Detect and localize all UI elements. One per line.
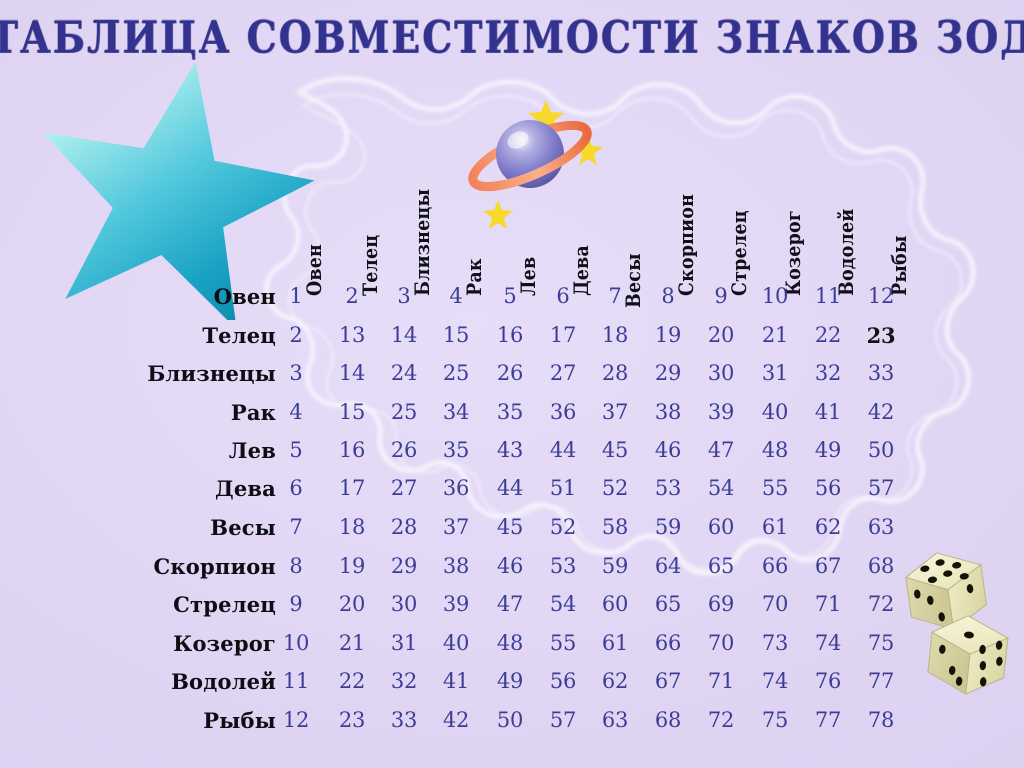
table-cell: 15: [330, 400, 374, 424]
table-cell: 9: [699, 284, 743, 308]
row-header-8: Скорпион: [120, 554, 276, 584]
table-cell: 60: [593, 592, 637, 616]
column-header-label: Скорпион: [676, 194, 698, 296]
table-cell: 32: [806, 361, 850, 385]
table-cell: 72: [699, 708, 743, 732]
table-cell: 11: [274, 669, 318, 693]
row-header-label: Телец: [202, 323, 276, 348]
table-cell: 38: [434, 554, 478, 578]
table-cell: 19: [330, 554, 374, 578]
table-cell: 7: [593, 284, 637, 308]
table-cell: 74: [806, 631, 850, 655]
table-cell: 44: [541, 438, 585, 462]
table-cell: 12: [274, 708, 318, 732]
row-header-1: Овен: [120, 284, 276, 314]
table-cell: 51: [541, 476, 585, 500]
table-cell: 23: [859, 323, 903, 348]
table-cell: 35: [488, 400, 532, 424]
table-cell: 28: [382, 515, 426, 539]
table-cell: 3: [382, 284, 426, 308]
table-cell: 65: [699, 554, 743, 578]
row-header-label: Близнецы: [147, 361, 276, 386]
table-cell: 6: [541, 284, 585, 308]
table-cell: 36: [434, 476, 478, 500]
table-cell: 2: [330, 284, 374, 308]
table-cell: 27: [382, 476, 426, 500]
table-cell: 15: [434, 323, 478, 347]
table-cell: 47: [699, 438, 743, 462]
table-cell: 42: [859, 400, 903, 424]
table-cell: 78: [859, 708, 903, 732]
table-cell: 48: [488, 631, 532, 655]
table-cell: 56: [541, 669, 585, 693]
row-header-4: Рак: [120, 400, 276, 430]
row-header-label: Овен: [214, 284, 276, 309]
table-cell: 10: [274, 631, 318, 655]
table-cell: 68: [646, 708, 690, 732]
compatibility-table: ОвенТелецБлизнецыРакЛевДеваВесыСкорпионС…: [0, 0, 1024, 768]
table-cell: 19: [646, 323, 690, 347]
table-cell: 58: [593, 515, 637, 539]
table-cell: 39: [434, 592, 478, 616]
column-header-3: Близнецы: [412, 179, 434, 296]
table-cell: 33: [382, 708, 426, 732]
column-header-label: Водолей: [836, 209, 858, 296]
table-cell: 39: [699, 400, 743, 424]
table-cell: 5: [274, 438, 318, 462]
table-cell: 30: [382, 592, 426, 616]
row-header-9: Стрелец: [120, 592, 276, 622]
table-cell: 77: [806, 708, 850, 732]
table-cell: 12: [859, 284, 903, 308]
column-header-10: Козерог: [783, 203, 805, 296]
table-cell: 4: [274, 400, 318, 424]
table-cell: 23: [330, 708, 374, 732]
table-cell: 42: [434, 708, 478, 732]
table-cell: 26: [382, 438, 426, 462]
table-cell: 54: [541, 592, 585, 616]
table-cell: 37: [434, 515, 478, 539]
table-cell: 43: [488, 438, 532, 462]
table-cell: 74: [753, 669, 797, 693]
table-cell: 67: [806, 554, 850, 578]
table-cell: 77: [859, 669, 903, 693]
table-cell: 61: [593, 631, 637, 655]
table-cell: 62: [593, 669, 637, 693]
table-cell: 40: [753, 400, 797, 424]
table-cell: 3: [274, 361, 318, 385]
table-cell: 21: [753, 323, 797, 347]
table-cell: 47: [488, 592, 532, 616]
column-header-8: Скорпион: [676, 185, 698, 296]
table-cell: 41: [434, 669, 478, 693]
table-cell: 14: [382, 323, 426, 347]
table-cell: 29: [382, 554, 426, 578]
table-cell: 75: [859, 631, 903, 655]
table-cell: 70: [753, 592, 797, 616]
table-cell: 17: [330, 476, 374, 500]
table-cell: 28: [593, 361, 637, 385]
table-cell: 20: [699, 323, 743, 347]
table-cell: 50: [859, 438, 903, 462]
row-header-7: Весы: [120, 515, 276, 545]
table-cell: 56: [806, 476, 850, 500]
table-cell: 57: [541, 708, 585, 732]
row-header-5: Лев: [120, 438, 276, 468]
table-cell: 7: [274, 515, 318, 539]
table-cell: 33: [859, 361, 903, 385]
table-cell: 60: [699, 515, 743, 539]
table-cell: 59: [646, 515, 690, 539]
row-header-label: Стрелец: [173, 592, 276, 617]
table-cell: 17: [541, 323, 585, 347]
row-header-label: Рак: [231, 400, 276, 425]
row-header-label: Дева: [215, 476, 276, 501]
table-cell: 76: [806, 669, 850, 693]
table-cell: 40: [434, 631, 478, 655]
row-header-label: Рыбы: [203, 708, 276, 733]
table-cell: 45: [593, 438, 637, 462]
table-cell: 10: [753, 284, 797, 308]
table-cell: 21: [330, 631, 374, 655]
table-cell: 8: [646, 284, 690, 308]
table-cell: 5: [488, 284, 532, 308]
table-cell: 55: [753, 476, 797, 500]
table-cell: 32: [382, 669, 426, 693]
column-header-9: Стрелец: [729, 203, 751, 296]
table-cell: 9: [274, 592, 318, 616]
table-cell: 18: [330, 515, 374, 539]
table-cell: 52: [593, 476, 637, 500]
table-cell: 25: [382, 400, 426, 424]
column-header-label: Близнецы: [412, 189, 434, 296]
table-cell: 66: [646, 631, 690, 655]
row-header-label: Весы: [210, 515, 276, 540]
table-cell: 63: [593, 708, 637, 732]
table-cell: 2: [274, 323, 318, 347]
table-cell: 63: [859, 515, 903, 539]
table-cell: 61: [753, 515, 797, 539]
table-cell: 38: [646, 400, 690, 424]
table-cell: 29: [646, 361, 690, 385]
row-header-10: Козерог: [120, 631, 276, 661]
table-cell: 16: [330, 438, 374, 462]
table-cell: 67: [646, 669, 690, 693]
table-cell: 25: [434, 361, 478, 385]
row-header-label: Водолей: [171, 669, 276, 694]
table-cell: 24: [382, 361, 426, 385]
table-cell: 16: [488, 323, 532, 347]
table-cell: 8: [274, 554, 318, 578]
table-cell: 35: [434, 438, 478, 462]
row-header-11: Водолей: [120, 669, 276, 699]
table-cell: 75: [753, 708, 797, 732]
table-cell: 18: [593, 323, 637, 347]
table-cell: 73: [753, 631, 797, 655]
table-cell: 68: [859, 554, 903, 578]
table-cell: 46: [488, 554, 532, 578]
table-cell: 57: [859, 476, 903, 500]
table-cell: 65: [646, 592, 690, 616]
table-cell: 62: [806, 515, 850, 539]
table-cell: 70: [699, 631, 743, 655]
table-cell: 22: [806, 323, 850, 347]
table-cell: 31: [753, 361, 797, 385]
table-cell: 52: [541, 515, 585, 539]
table-cell: 27: [541, 361, 585, 385]
table-cell: 72: [859, 592, 903, 616]
table-cell: 46: [646, 438, 690, 462]
table-cell: 14: [330, 361, 374, 385]
table-cell: 55: [541, 631, 585, 655]
table-cell: 30: [699, 361, 743, 385]
table-cell: 53: [646, 476, 690, 500]
table-cell: 1: [274, 284, 318, 308]
slide-canvas: ТАБЛИЦА СОВМЕСТИМОСТИ ЗНАКОВ ЗОДИАКА Ове…: [0, 0, 1024, 768]
table-cell: 45: [488, 515, 532, 539]
table-cell: 6: [274, 476, 318, 500]
row-header-6: Дева: [120, 476, 276, 506]
row-header-12: Рыбы: [120, 708, 276, 738]
table-cell: 4: [434, 284, 478, 308]
table-cell: 69: [699, 592, 743, 616]
table-cell: 11: [806, 284, 850, 308]
column-header-11: Водолей: [836, 201, 858, 296]
table-cell: 26: [488, 361, 532, 385]
row-header-2: Телец: [120, 323, 276, 353]
table-cell: 64: [646, 554, 690, 578]
table-cell: 59: [593, 554, 637, 578]
table-cell: 22: [330, 669, 374, 693]
table-cell: 48: [753, 438, 797, 462]
table-cell: 71: [699, 669, 743, 693]
table-cell: 31: [382, 631, 426, 655]
table-cell: 13: [330, 323, 374, 347]
table-cell: 49: [806, 438, 850, 462]
row-header-label: Скорпион: [154, 554, 277, 579]
table-cell: 53: [541, 554, 585, 578]
table-cell: 71: [806, 592, 850, 616]
table-cell: 34: [434, 400, 478, 424]
table-cell: 49: [488, 669, 532, 693]
row-header-3: Близнецы: [120, 361, 276, 391]
table-cell: 50: [488, 708, 532, 732]
table-cell: 54: [699, 476, 743, 500]
table-cell: 36: [541, 400, 585, 424]
row-header-label: Лев: [229, 438, 276, 463]
table-cell: 41: [806, 400, 850, 424]
table-cell: 44: [488, 476, 532, 500]
row-header-label: Козерог: [173, 631, 276, 656]
table-cell: 66: [753, 554, 797, 578]
table-cell: 20: [330, 592, 374, 616]
table-cell: 37: [593, 400, 637, 424]
